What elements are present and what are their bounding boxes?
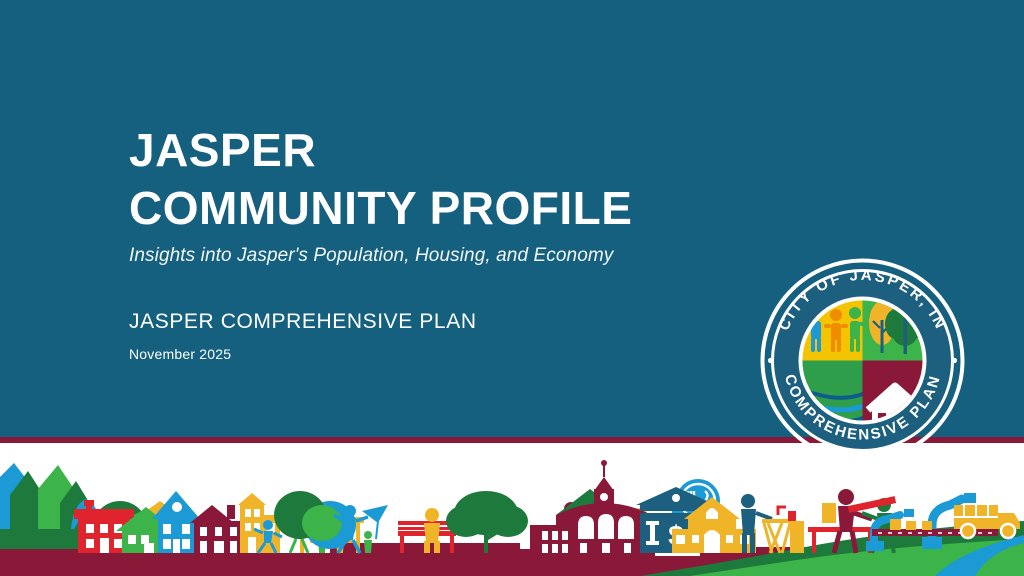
city-seal-logo: CITY OF JASPER, IN COMPREHENSIVE PLAN <box>760 258 965 463</box>
park-tree-green <box>274 491 342 541</box>
yellow-tall-house <box>238 493 280 553</box>
page-tagline: Insights into Jasper's Population, Housi… <box>129 245 749 267</box>
plan-name: JASPER COMPREHENSIVE PLAN <box>129 310 649 334</box>
plan-date: November 2025 <box>129 346 649 362</box>
slide-root: JASPER COMMUNITY PROFILE Insights into J… <box>0 0 1024 576</box>
community-illustration: $ <box>0 443 1024 576</box>
dark-red-house <box>190 505 242 553</box>
logo-dot-right <box>952 358 957 363</box>
umbrella-icon <box>362 505 388 523</box>
page-title-line1: JASPER <box>129 126 749 176</box>
title-block: JASPER COMMUNITY PROFILE Insights into J… <box>129 126 749 267</box>
page-title-line2: COMMUNITY PROFILE <box>129 184 749 234</box>
courthouse-arches <box>578 514 634 539</box>
plan-block: JASPER COMPREHENSIVE PLAN November 2025 <box>129 310 649 362</box>
child-small <box>364 531 372 553</box>
logo-dot-left <box>768 358 773 363</box>
